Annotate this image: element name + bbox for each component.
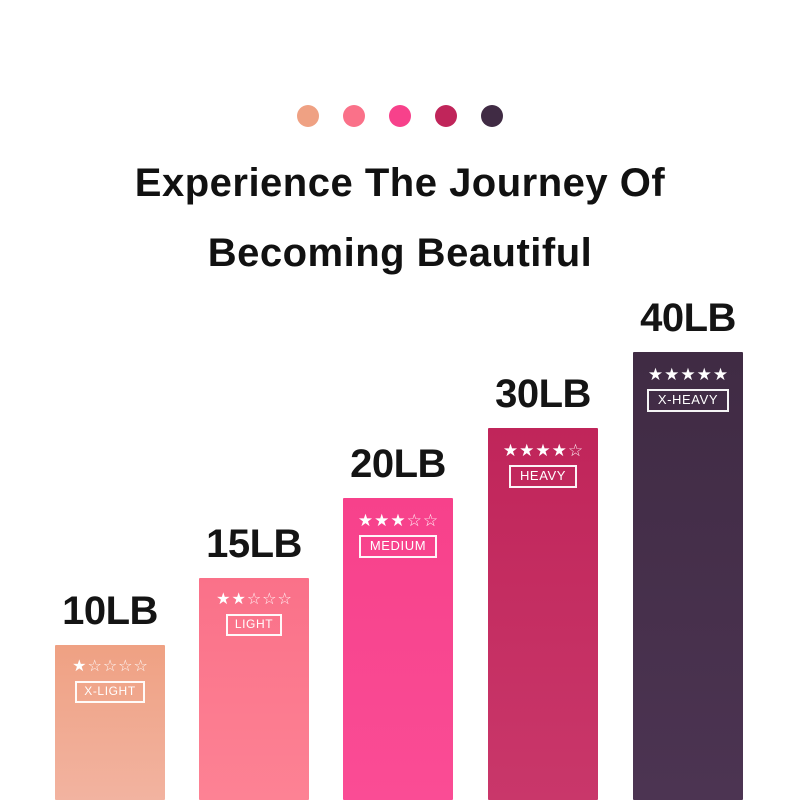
star-filled-icon: ★ — [713, 366, 728, 383]
star-empty-icon: ☆ — [118, 659, 132, 675]
bar-rect[interactable]: ★★★☆☆MEDIUM — [343, 498, 453, 800]
star-filled-icon: ★ — [697, 366, 712, 383]
resistance-level-chip: HEAVY — [509, 465, 577, 488]
star-rating: ★☆☆☆☆ — [72, 659, 148, 675]
star-filled-icon: ★ — [648, 366, 663, 383]
bar-value-label: 40LB — [640, 298, 736, 338]
star-filled-icon: ★ — [358, 512, 373, 529]
bar-value-label: 30LB — [495, 374, 591, 414]
star-filled-icon: ★ — [519, 442, 534, 459]
bar-group-40lb[interactable]: 40LB★★★★★X-HEAVY — [633, 352, 743, 800]
bar-badge-group: ★☆☆☆☆X-LIGHT — [55, 659, 165, 703]
bar-rect[interactable]: ★★★★★X-HEAVY — [633, 352, 743, 800]
bar-group-10lb[interactable]: 10LB★☆☆☆☆X-LIGHT — [55, 645, 165, 800]
star-empty-icon: ☆ — [407, 512, 422, 529]
star-rating: ★★★★☆ — [503, 442, 583, 459]
star-rating: ★★★★★ — [648, 366, 728, 383]
star-empty-icon: ☆ — [134, 659, 148, 675]
infographic-canvas: Experience The Journey Of Becoming Beaut… — [0, 0, 800, 800]
star-filled-icon: ★ — [216, 592, 230, 608]
bar-badge-group: ★★★☆☆MEDIUM — [343, 512, 453, 558]
bar-badge-group: ★★☆☆☆LIGHT — [199, 592, 309, 636]
star-empty-icon: ☆ — [247, 592, 261, 608]
bar-rect[interactable]: ★★★★☆HEAVY — [488, 428, 598, 800]
star-filled-icon: ★ — [535, 442, 550, 459]
star-empty-icon: ☆ — [262, 592, 276, 608]
star-filled-icon: ★ — [374, 512, 389, 529]
star-empty-icon: ☆ — [87, 659, 101, 675]
bar-value-label: 15LB — [206, 524, 302, 564]
bar-group-15lb[interactable]: 15LB★★☆☆☆LIGHT — [199, 578, 309, 800]
star-filled-icon: ★ — [503, 442, 518, 459]
bar-group-20lb[interactable]: 20LB★★★☆☆MEDIUM — [343, 498, 453, 800]
bar-badge-group: ★★★★☆HEAVY — [488, 442, 598, 488]
star-filled-icon: ★ — [552, 442, 567, 459]
bar-value-label: 20LB — [350, 444, 446, 484]
resistance-level-chip: X-LIGHT — [75, 681, 145, 703]
resistance-bar-chart: 10LB★☆☆☆☆X-LIGHT15LB★★☆☆☆LIGHT20LB★★★☆☆M… — [0, 0, 800, 800]
star-empty-icon: ☆ — [423, 512, 438, 529]
bar-group-30lb[interactable]: 30LB★★★★☆HEAVY — [488, 428, 598, 800]
star-rating: ★★☆☆☆ — [216, 592, 292, 608]
star-empty-icon: ☆ — [568, 442, 583, 459]
bar-badge-group: ★★★★★X-HEAVY — [633, 366, 743, 412]
resistance-level-chip: LIGHT — [226, 614, 282, 636]
star-filled-icon: ★ — [231, 592, 245, 608]
star-rating: ★★★☆☆ — [358, 512, 438, 529]
resistance-level-chip: MEDIUM — [359, 535, 437, 558]
star-empty-icon: ☆ — [278, 592, 292, 608]
bar-rect[interactable]: ★★☆☆☆LIGHT — [199, 578, 309, 800]
resistance-level-chip: X-HEAVY — [647, 389, 729, 412]
star-empty-icon: ☆ — [103, 659, 117, 675]
star-filled-icon: ★ — [680, 366, 695, 383]
star-filled-icon: ★ — [72, 659, 86, 675]
star-filled-icon: ★ — [390, 512, 405, 529]
star-filled-icon: ★ — [664, 366, 679, 383]
bar-value-label: 10LB — [62, 591, 158, 631]
bar-rect[interactable]: ★☆☆☆☆X-LIGHT — [55, 645, 165, 800]
